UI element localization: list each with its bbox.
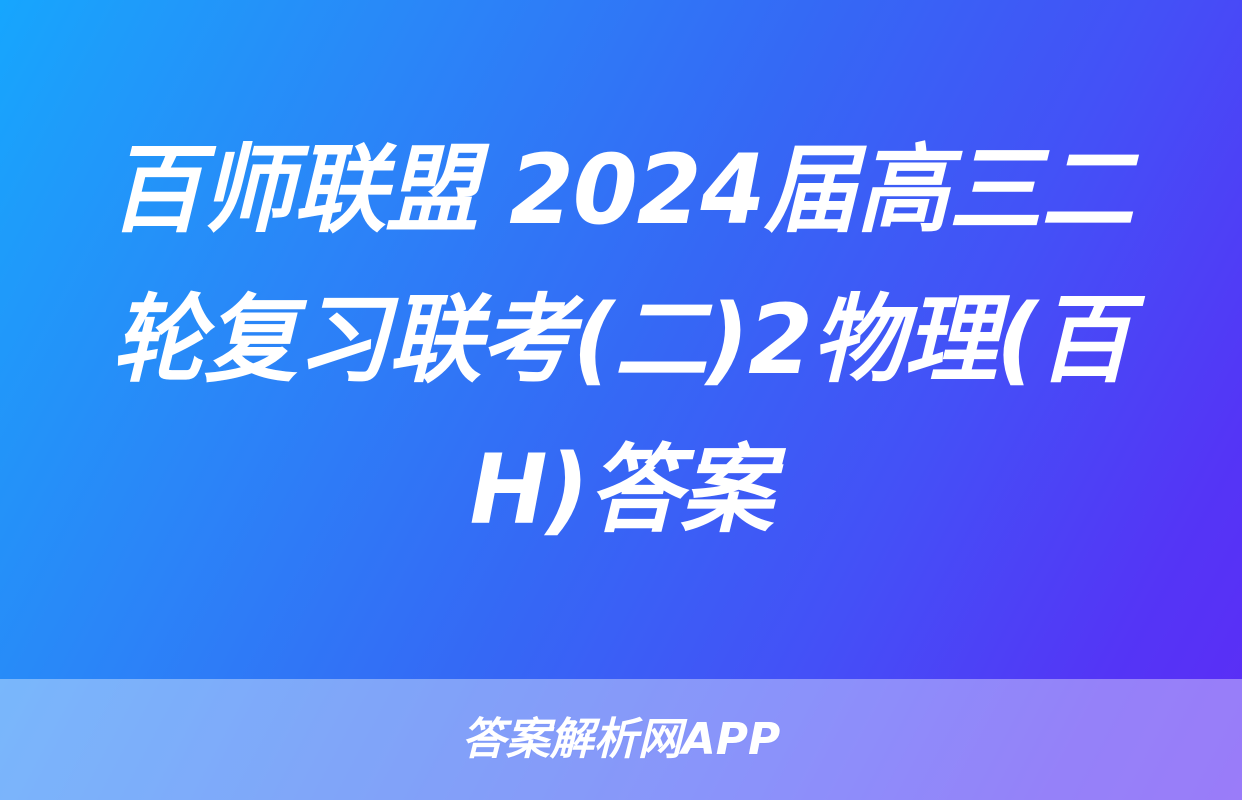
app-watermark-label: 答案解析网APP	[462, 718, 781, 762]
answer-poster: 百师联盟 2024届高三二轮复习联考(二)2物理(百H)答案 答案解析网APP	[0, 0, 1242, 800]
poster-title: 百师联盟 2024届高三二轮复习联考(二)2物理(百H)答案	[95, 115, 1146, 565]
watermark-band: 答案解析网APP	[0, 679, 1242, 800]
poster-title-block: 百师联盟 2024届高三二轮复习联考(二)2物理(百H)答案	[0, 0, 1242, 679]
